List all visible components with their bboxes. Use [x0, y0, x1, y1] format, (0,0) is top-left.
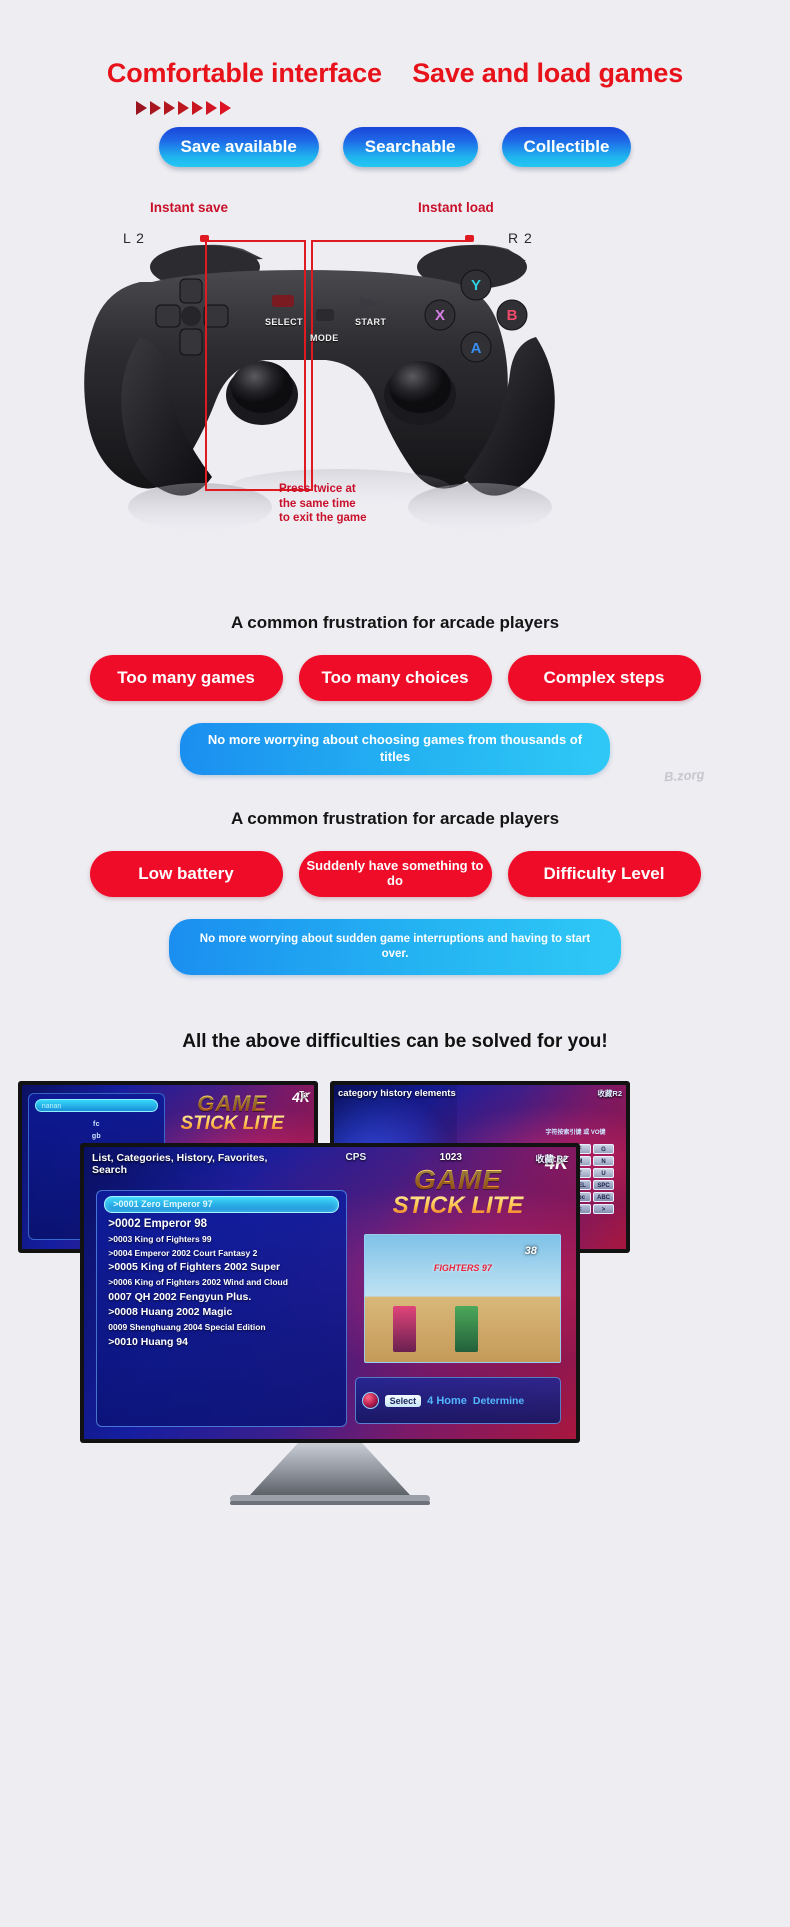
preview-character [455, 1306, 478, 1352]
headline-save-and-load-games: Save and load games [412, 58, 683, 89]
problem-pill-too-many-choices[interactable]: Too many choices [299, 655, 492, 701]
tv-main-game-count: 1023 [440, 1152, 462, 1163]
gamepad-illustration: Y X B A [0, 187, 790, 607]
label-start-button: START [355, 317, 386, 327]
game-list-item[interactable]: >0002 Emperor 98 [104, 1216, 339, 1233]
label-instant-save: Instant save [150, 200, 228, 215]
feature-pill-row: Save available Searchable Collectible [0, 127, 790, 167]
action-bar: Select 4 Home Determine [355, 1377, 562, 1424]
headline-comfortable-interface: Comfortable interface [107, 58, 382, 89]
exit-note-line-1: Press twice at [279, 482, 367, 497]
tv-main-screen: List, Categories, History, Favorites, Se… [84, 1147, 576, 1439]
arrow-right-icon [220, 101, 231, 115]
game-list-selected-item[interactable]: >0001 Zero Emperor 97 [104, 1196, 339, 1213]
key[interactable]: N [593, 1156, 615, 1166]
final-title: All the above difficulties can be solved… [0, 1031, 790, 1053]
label-select-button: SELECT [265, 317, 303, 327]
arrow-right-icon [150, 101, 161, 115]
annotation-marker-left [200, 235, 209, 242]
problem-pill-difficulty-level[interactable]: Difficulty Level [508, 851, 701, 897]
exit-note-line-3: to exit the game [279, 511, 367, 526]
game-list[interactable]: >0001 Zero Emperor 97 >0002 Emperor 98 >… [96, 1190, 347, 1427]
game-list-item[interactable]: >0006 King of Fighters 2002 Wind and Clo… [104, 1276, 339, 1290]
tv-right-sub-label: 字符按索引键 或 VO键 [546, 1127, 606, 1136]
game-list-item[interactable]: 0009 Shenghuang 2004 Special Edition [104, 1321, 339, 1335]
section-one-problem-row: Too many games Too many choices Complex … [0, 655, 790, 701]
problem-pill-too-many-games[interactable]: Too many games [90, 655, 283, 701]
tv-stand [80, 1443, 580, 1517]
arrow-right-icon [206, 101, 217, 115]
category-item-gb[interactable]: gb [29, 1131, 164, 1143]
tv-left-tab-label: Ta [299, 1090, 308, 1099]
feature-pill-searchable[interactable]: Searchable [343, 127, 478, 167]
game-preview: 38 FIGHTERS 97 [364, 1234, 561, 1362]
svg-text:A: A [471, 340, 482, 357]
arrow-right-icon [178, 101, 189, 115]
arrow-decoration-row [0, 101, 790, 115]
exit-note-line-2: the same time [279, 497, 367, 512]
section-one-title: A common frustration for arcade players [0, 613, 790, 633]
problem-pill-suddenly-have-something-to-do[interactable]: Suddenly have something to do [299, 851, 492, 897]
preview-character [393, 1306, 416, 1352]
label-instant-load: Instant load [418, 200, 494, 215]
section-one-solution-wrap: No more worrying about choosing games fr… [0, 723, 790, 775]
tv-main: List, Categories, History, Favorites, Se… [80, 1143, 580, 1443]
headline-row: Comfortable interface Save and load game… [0, 0, 790, 89]
game-list-item[interactable]: >0003 King of Fighters 99 [104, 1233, 339, 1247]
tv-right-header: category history elements [338, 1088, 456, 1099]
svg-text:X: X [435, 307, 445, 324]
arrow-right-icon [136, 101, 147, 115]
game-list-item[interactable]: >0005 King of Fighters 2002 Super [104, 1260, 339, 1276]
action-home-button[interactable]: 4 Home [427, 1395, 467, 1407]
logo-line-stick-lite: STICK LITE [350, 1192, 566, 1220]
annotation-line [311, 240, 471, 242]
feature-pill-collectible[interactable]: Collectible [502, 127, 632, 167]
annotation-line [205, 240, 207, 490]
category-item-fc[interactable]: fc [29, 1119, 164, 1131]
tv-main-favorites-label: 收藏:R2 [535, 1152, 568, 1165]
tv-showcase: nanan fc gb gba gbc md sfc ps1 atari [0, 1081, 790, 1641]
preview-title: FIGHTERS 97 [434, 1263, 492, 1273]
tv-stand-illustration [80, 1443, 580, 1517]
section-two-title: A common frustration for arcade players [0, 809, 790, 829]
game-list-item[interactable]: >0008 Huang 2002 Magic [104, 1305, 339, 1321]
section-two-problem-row: Low battery Suddenly have something to d… [0, 851, 790, 897]
solution-banner-interruptions: No more worrying about sudden game inter… [169, 919, 621, 975]
tv-left-search-bar[interactable]: nanan [35, 1099, 158, 1112]
game-list-item[interactable]: 0007 QH 2002 Fengyun Plus. [104, 1290, 339, 1306]
label-mode-button: MODE [310, 333, 339, 343]
key-abc-upper[interactable]: ABC [593, 1192, 615, 1202]
annotation-marker-right [465, 235, 474, 242]
label-r2-button: R 2 [508, 230, 533, 246]
problem-pill-complex-steps[interactable]: Complex steps [508, 655, 701, 701]
game-list-item[interactable]: >0010 Huang 94 [104, 1335, 339, 1351]
section-two-solution-wrap: No more worrying about sudden game inter… [0, 919, 790, 975]
action-select-button[interactable]: Select [385, 1395, 422, 1407]
tv-main-top-bar: List, Categories, History, Favorites, Se… [84, 1147, 576, 1178]
game-list-item[interactable]: >0004 Emperor 2002 Court Fantasy 2 [104, 1247, 339, 1261]
annotation-line [304, 240, 306, 490]
key-space[interactable]: SPC [593, 1180, 615, 1190]
arrow-right-icon [192, 101, 203, 115]
tv-left-gamestick-logo: GAME STICK LITE [159, 1091, 305, 1135]
annotation-line [311, 240, 313, 490]
arrow-right-icon [164, 101, 175, 115]
label-l2-button: L 2 [123, 230, 145, 246]
annotation-line [205, 240, 305, 242]
svg-text:Y: Y [471, 277, 481, 294]
product-marketing-page: Comfortable interface Save and load game… [0, 0, 790, 1641]
gamepad-diagram: Y X B A Instant save Instant [0, 187, 790, 607]
joystick-orb-icon [362, 1392, 379, 1409]
solution-banner-games: No more worrying about choosing games fr… [180, 723, 610, 775]
feature-pill-save-available[interactable]: Save available [159, 127, 319, 167]
action-determine-button[interactable]: Determine [473, 1395, 524, 1407]
key[interactable]: U [593, 1168, 615, 1178]
key-next[interactable]: > [593, 1204, 615, 1214]
problem-pill-low-battery[interactable]: Low battery [90, 851, 283, 897]
key[interactable]: G [593, 1144, 615, 1154]
exit-game-note: Press twice at the same time to exit the… [279, 482, 367, 526]
preview-number: 38 [525, 1245, 537, 1257]
svg-text:B: B [507, 307, 518, 324]
tv-right-favorites-label: 收藏R2 [597, 1088, 622, 1099]
tv-main-cps-label: CPS [346, 1152, 367, 1163]
logo-line-stick-lite: STICK LITE [159, 1113, 305, 1135]
tv-main-header: List, Categories, History, Favorites, Se… [92, 1152, 272, 1178]
